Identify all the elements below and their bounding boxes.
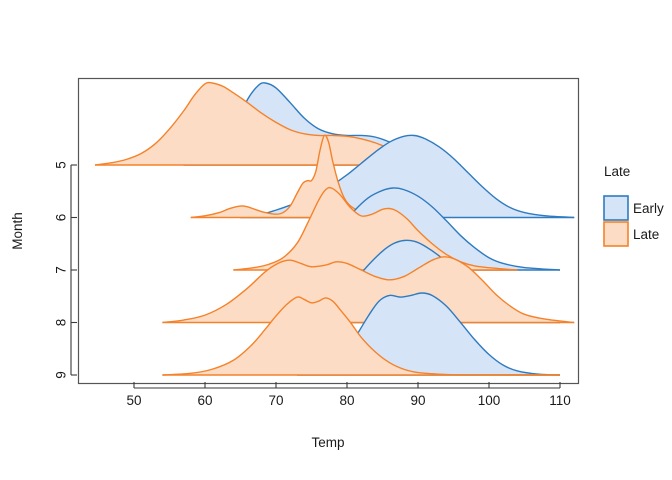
legend-swatch-late xyxy=(604,222,628,246)
x-tick-label-110: 110 xyxy=(549,393,571,408)
y-tick-label-9: 9 xyxy=(54,371,69,379)
y-tick-label-6: 6 xyxy=(54,214,69,222)
y-tick-label-5: 5 xyxy=(54,161,69,169)
x-tick-label-50: 50 xyxy=(126,393,141,408)
x-tick-label-80: 80 xyxy=(339,393,354,408)
legend-label-late: Late xyxy=(633,227,659,242)
legend-label-early: Early xyxy=(633,201,664,216)
x-axis-title: Temp xyxy=(311,435,344,450)
x-tick-label-60: 60 xyxy=(197,393,212,408)
x-tick-label-90: 90 xyxy=(410,393,425,408)
y-tick-label-8: 8 xyxy=(54,319,69,327)
x-tick-label-100: 100 xyxy=(478,393,501,408)
ridgeline-chart: 5060708090100110 56789 Temp Month Late E… xyxy=(0,0,672,480)
x-tick-label-70: 70 xyxy=(268,393,283,408)
y-tick-label-7: 7 xyxy=(54,266,69,274)
legend-title: Late xyxy=(604,164,630,179)
y-axis-title: Month xyxy=(10,212,25,250)
legend-swatch-early xyxy=(604,196,628,220)
